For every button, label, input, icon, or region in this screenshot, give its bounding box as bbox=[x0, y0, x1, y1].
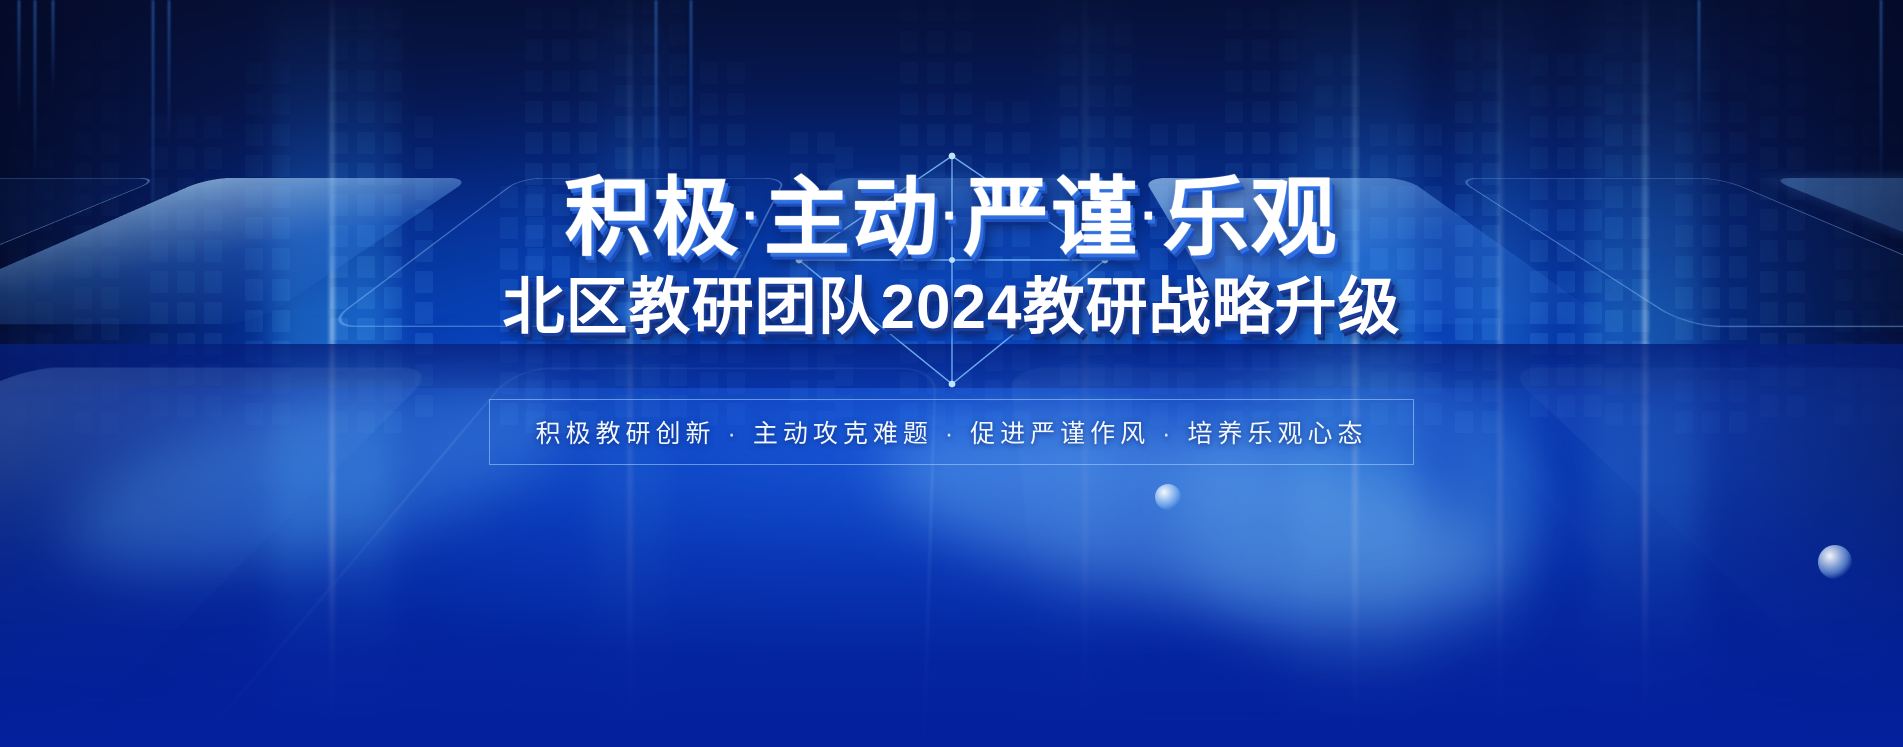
background-bottom-glow bbox=[0, 388, 1903, 747]
light-streak bbox=[690, 0, 692, 210]
light-streak bbox=[18, 0, 20, 120]
light-streak bbox=[34, 0, 36, 180]
light-streak bbox=[52, 0, 54, 95]
light-streak bbox=[1880, 0, 1882, 200]
light-streak bbox=[1698, 0, 1700, 140]
banner-root: 积极·主动·严谨·乐观 北区教研团队2024教研战略升级 积极教研创新·主动攻克… bbox=[0, 0, 1903, 747]
light-streak bbox=[168, 0, 170, 150]
light-streak bbox=[152, 0, 154, 260]
light-streak bbox=[655, 0, 657, 300]
